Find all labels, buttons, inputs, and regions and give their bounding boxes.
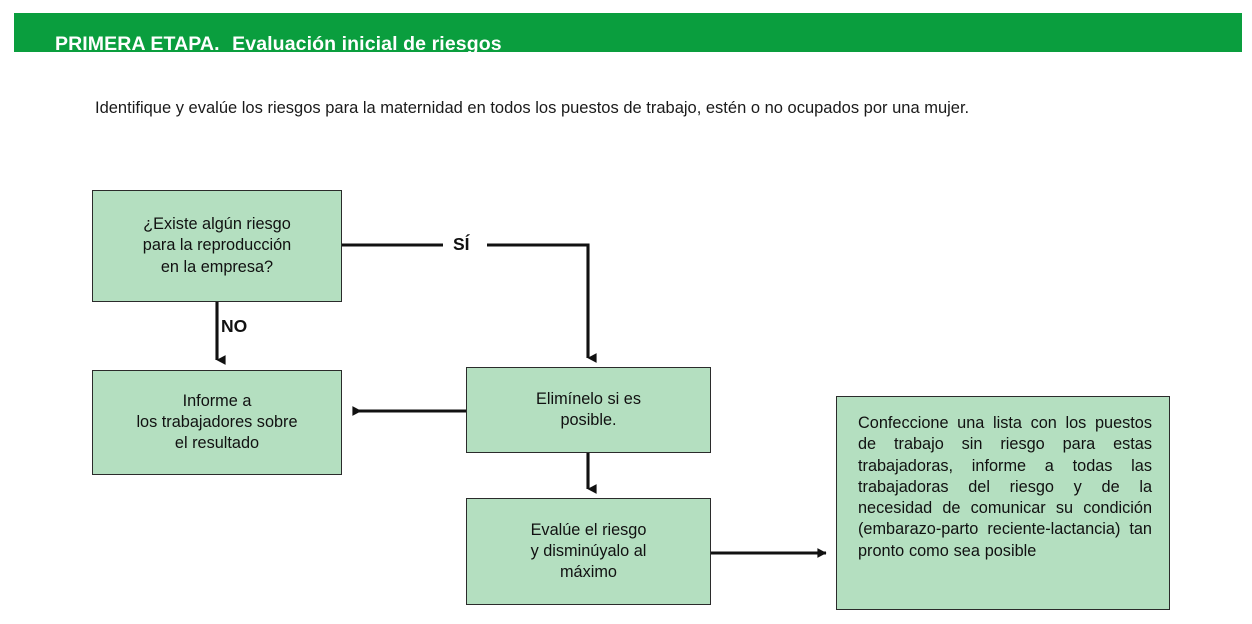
flowchart-page: PRIMERA ETAPA. Evaluación inicial de rie… <box>0 0 1252 624</box>
page-title: Evaluación inicial de riesgos <box>232 33 502 55</box>
flow-node-evaluate: Evalúe el riesgo y disminúyalo al máximo <box>466 498 711 605</box>
flow-node-inform-label: Informe a los trabajadores sobre el resu… <box>136 391 297 455</box>
stage-header-text: PRIMERA ETAPA. Evaluación inicial de rie… <box>55 33 502 56</box>
edge-label-no: NO <box>221 316 247 337</box>
flow-node-evaluate-label: Evalúe el riesgo y disminúyalo al máximo <box>531 520 647 584</box>
flow-node-inform: Informe a los trabajadores sobre el resu… <box>92 370 342 475</box>
edge-yes-branch <box>342 245 588 358</box>
flow-node-safe-list-label: Confeccione una lista con los puestos de… <box>858 413 1152 562</box>
flow-node-risk-question: ¿Existe algún riesgo para la reproducció… <box>92 190 342 302</box>
stage-header-band: PRIMERA ETAPA. Evaluación inicial de rie… <box>14 13 1242 52</box>
flow-node-risk-question-label: ¿Existe algún riesgo para la reproducció… <box>143 214 291 278</box>
flow-node-eliminate: Elimínelo si es posible. <box>466 367 711 453</box>
intro-paragraph: Identifique y evalúe los riesgos para la… <box>95 99 969 118</box>
stage-label: PRIMERA ETAPA. <box>55 33 220 55</box>
edge-label-yes: SÍ <box>448 234 475 255</box>
flow-node-eliminate-label: Elimínelo si es posible. <box>536 389 641 431</box>
flow-node-safe-list: Confeccione una lista con los puestos de… <box>836 396 1170 610</box>
